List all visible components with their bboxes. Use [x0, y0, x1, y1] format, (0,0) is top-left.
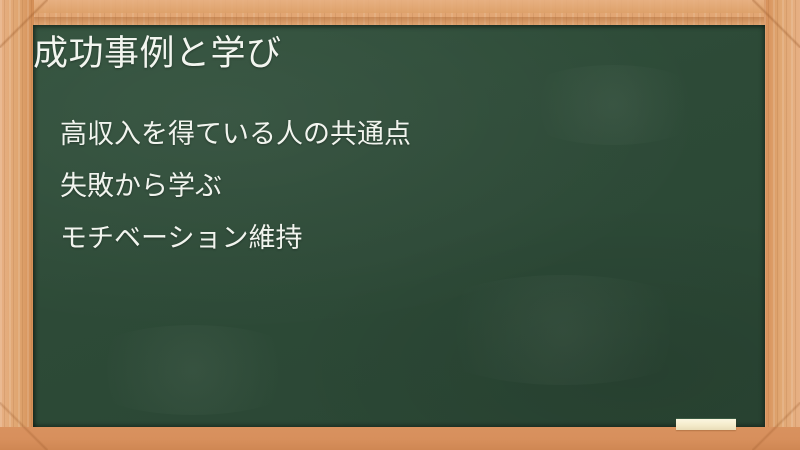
frame-top-highlight: [0, 0, 800, 13]
chalk-dust-smudge: [413, 275, 713, 385]
chalk-stick-icon: [676, 418, 736, 430]
frame-right-rail: [764, 0, 800, 450]
list-item: モチベーション維持: [60, 212, 730, 264]
slide-title: 成功事例と学び: [33, 32, 693, 76]
blackboard-slide: 成功事例と学び 高収入を得ている人の共通点 失敗から学ぶ モチベーション維持: [0, 0, 800, 450]
frame-left-rail: [0, 0, 34, 450]
frame-top-shadow: [0, 17, 800, 25]
list-item: 高収入を得ている人の共通点: [60, 108, 730, 160]
list-item: 失敗から学ぶ: [60, 160, 730, 212]
slide-bullet-list: 高収入を得ている人の共通点 失敗から学ぶ モチベーション維持: [60, 108, 730, 264]
chalk-dust-smudge: [73, 325, 313, 415]
frame-bottom-ledge: [0, 427, 800, 450]
